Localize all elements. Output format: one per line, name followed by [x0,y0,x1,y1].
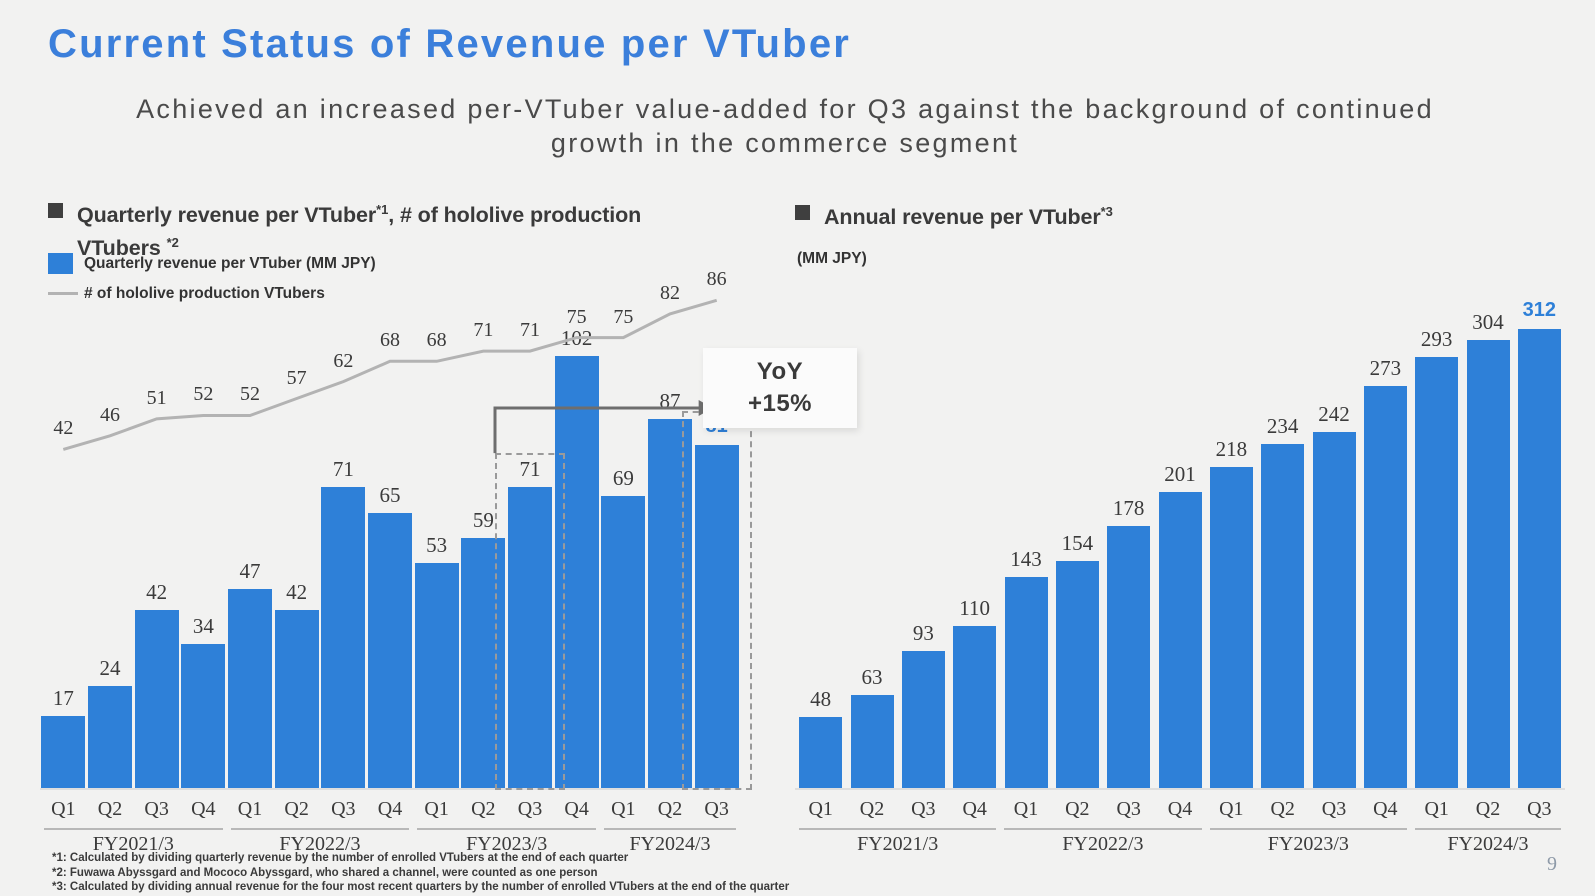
fiscal-year-rule [604,828,736,830]
fiscal-year-rule [231,828,410,830]
line-value-label: 75 [600,306,647,329]
x-axis-quarter-label: Q2 [273,798,320,821]
bar-annual-1[interactable] [851,695,894,788]
x-axis-quarter-label: Q3 [1514,798,1565,821]
bar-quarterly-8[interactable] [415,563,459,788]
page-number: 9 [1547,853,1557,876]
line-value-label: 52 [227,383,274,406]
page-title: Current Status of Revenue per VTuber [48,22,851,67]
x-axis-quarter-label: Q4 [180,798,227,821]
bar-annual-3[interactable] [953,626,996,788]
x-axis-quarter-label: Q4 [1360,798,1411,821]
x-axis-quarter-label: Q1 [1411,798,1462,821]
annual-revenue-chart: 4863931101431541782012182342422732933043… [795,180,1565,850]
x-axis-quarter-label: Q1 [413,798,460,821]
fiscal-year-rule [1415,828,1561,830]
quarterly-revenue-chart: 1724423447427165535971102698781424651525… [40,180,740,850]
line-value-label: 82 [647,282,694,305]
x-axis-quarter-label: Q3 [693,798,740,821]
fiscal-year-group: FY2023/3 [1210,828,1407,856]
x-axis-quarter-label: Q2 [1052,798,1103,821]
bar-annual-14[interactable] [1518,329,1561,788]
bar-value-label: 93 [898,621,949,646]
bar-value-label: 34 [180,614,227,639]
bar-quarterly-7[interactable] [368,513,412,788]
bar-annual-9[interactable] [1261,444,1304,789]
line-value-label: 62 [320,350,367,373]
fiscal-year-label: FY2024/3 [1415,833,1561,856]
bar-value-label: 273 [1360,356,1411,381]
bar-annual-7[interactable] [1159,492,1202,788]
bar-quarterly-2[interactable] [135,610,179,788]
x-axis-quarter-label: Q2 [1462,798,1513,821]
bar-annual-5[interactable] [1056,561,1099,788]
fiscal-year-label: FY2021/3 [799,833,996,856]
bar-value-label: 143 [1000,547,1051,572]
footnote-1: *1: Calculated by dividing quarterly rev… [52,851,789,866]
line-value-label: 71 [507,319,554,342]
bar-annual-6[interactable] [1107,526,1150,788]
bar-value-label: 312 [1514,299,1565,322]
bar-annual-2[interactable] [902,651,945,788]
fiscal-year-rule [1210,828,1407,830]
bar-value-label: 154 [1052,531,1103,556]
x-axis-quarter-label: Q2 [846,798,897,821]
fiscal-year-rule [44,828,223,830]
x-axis-quarter-label: Q2 [647,798,694,821]
x-axis-quarter-label: Q3 [507,798,554,821]
bar-value-label: 110 [949,596,1000,621]
bar-quarterly-4[interactable] [228,589,272,788]
bar-value-label: 178 [1103,496,1154,521]
bar-value-label: 234 [1257,414,1308,439]
bar-annual-10[interactable] [1313,432,1356,788]
bar-value-label: 63 [846,665,897,690]
x-axis-quarter-label: Q4 [1154,798,1205,821]
bar-quarterly-3[interactable] [181,644,225,788]
bar-value-label: 201 [1154,462,1205,487]
x-axis-quarter-label: Q4 [949,798,1000,821]
line-value-label: 75 [553,306,600,329]
bar-annual-13[interactable] [1467,340,1510,788]
bar-value-label: 48 [795,687,846,712]
bar-annual-12[interactable] [1415,357,1458,788]
bar-value-label: 65 [367,483,414,508]
x-axis-quarter-label: Q4 [553,798,600,821]
fiscal-year-label: FY2023/3 [1210,833,1407,856]
bar-value-label: 17 [40,686,87,711]
fiscal-year-label: FY2022/3 [1004,833,1201,856]
line-value-label: 51 [133,387,180,410]
fiscal-year-group: FY2024/3 [1415,828,1561,856]
x-axis-quarter-label: Q1 [227,798,274,821]
bar-value-label: 53 [413,533,460,558]
line-value-label: 57 [273,367,320,390]
bar-value-label: 102 [553,326,600,351]
bar-annual-11[interactable] [1364,386,1407,788]
bar-value-label: 42 [273,580,320,605]
fiscal-year-rule [799,828,996,830]
bar-annual-8[interactable] [1210,467,1253,788]
footnote-3: *3: Calculated by dividing annual revenu… [52,880,789,895]
bar-value-label: 69 [600,466,647,491]
slide-root: Current Status of Revenue per VTuber Ach… [0,0,1595,896]
footnotes: *1: Calculated by dividing quarterly rev… [52,851,789,895]
x-axis-quarter-label: Q1 [1000,798,1051,821]
bar-annual-0[interactable] [799,717,842,788]
x-axis-quarter-label: Q1 [40,798,87,821]
line-value-label: 46 [87,404,134,427]
bar-value-label: 71 [320,457,367,482]
x-axis-quarter-label: Q2 [460,798,507,821]
bar-quarterly-1[interactable] [88,686,132,788]
footnote-2: *2: Fuwawa Abyssgard and Mococo Abyssgar… [52,866,789,881]
bar-value-label: 24 [87,656,134,681]
line-value-label: 68 [413,329,460,352]
bar-value-label: 42 [133,580,180,605]
line-value-label: 52 [180,383,227,406]
fiscal-year-group: FY2021/3 [799,828,996,856]
bar-quarterly-0[interactable] [41,716,85,788]
page-subtitle: Achieved an increased per-VTuber value-a… [120,92,1450,160]
x-axis-quarter-label: Q1 [795,798,846,821]
x-axis-quarter-label: Q2 [1257,798,1308,821]
x-axis-quarter-label: Q3 [898,798,949,821]
line-value-label: 68 [367,329,414,352]
x-axis-quarter-label: Q4 [367,798,414,821]
bar-value-label: 242 [1308,402,1359,427]
bar-value-label: 293 [1411,327,1462,352]
bar-quarterly-6[interactable] [321,487,365,788]
fiscal-year-group: FY2022/3 [1004,828,1201,856]
x-axis-quarter-label: Q3 [320,798,367,821]
x-axis-quarter-label: Q3 [1103,798,1154,821]
bar-quarterly-5[interactable] [275,610,319,788]
x-axis-quarter-label: Q1 [1206,798,1257,821]
x-axis-line [40,788,740,790]
x-axis-quarter-label: Q1 [600,798,647,821]
line-value-label: 71 [460,319,507,342]
line-value-label: 42 [40,417,87,440]
bar-annual-4[interactable] [1005,577,1048,788]
x-axis-quarter-label: Q3 [133,798,180,821]
x-axis-quarter-label: Q2 [87,798,134,821]
highlight-dashed-box [495,453,565,790]
bar-value-label: 304 [1462,310,1513,335]
x-axis-line [795,788,1565,790]
fiscal-year-rule [417,828,596,830]
x-axis-quarter-label: Q3 [1308,798,1359,821]
line-value-label: 86 [693,268,740,291]
bar-value-label: 47 [227,559,274,584]
highlight-dashed-box [682,411,752,790]
fiscal-year-rule [1004,828,1201,830]
bar-quarterly-12[interactable] [601,496,645,788]
bar-value-label: 218 [1206,437,1257,462]
